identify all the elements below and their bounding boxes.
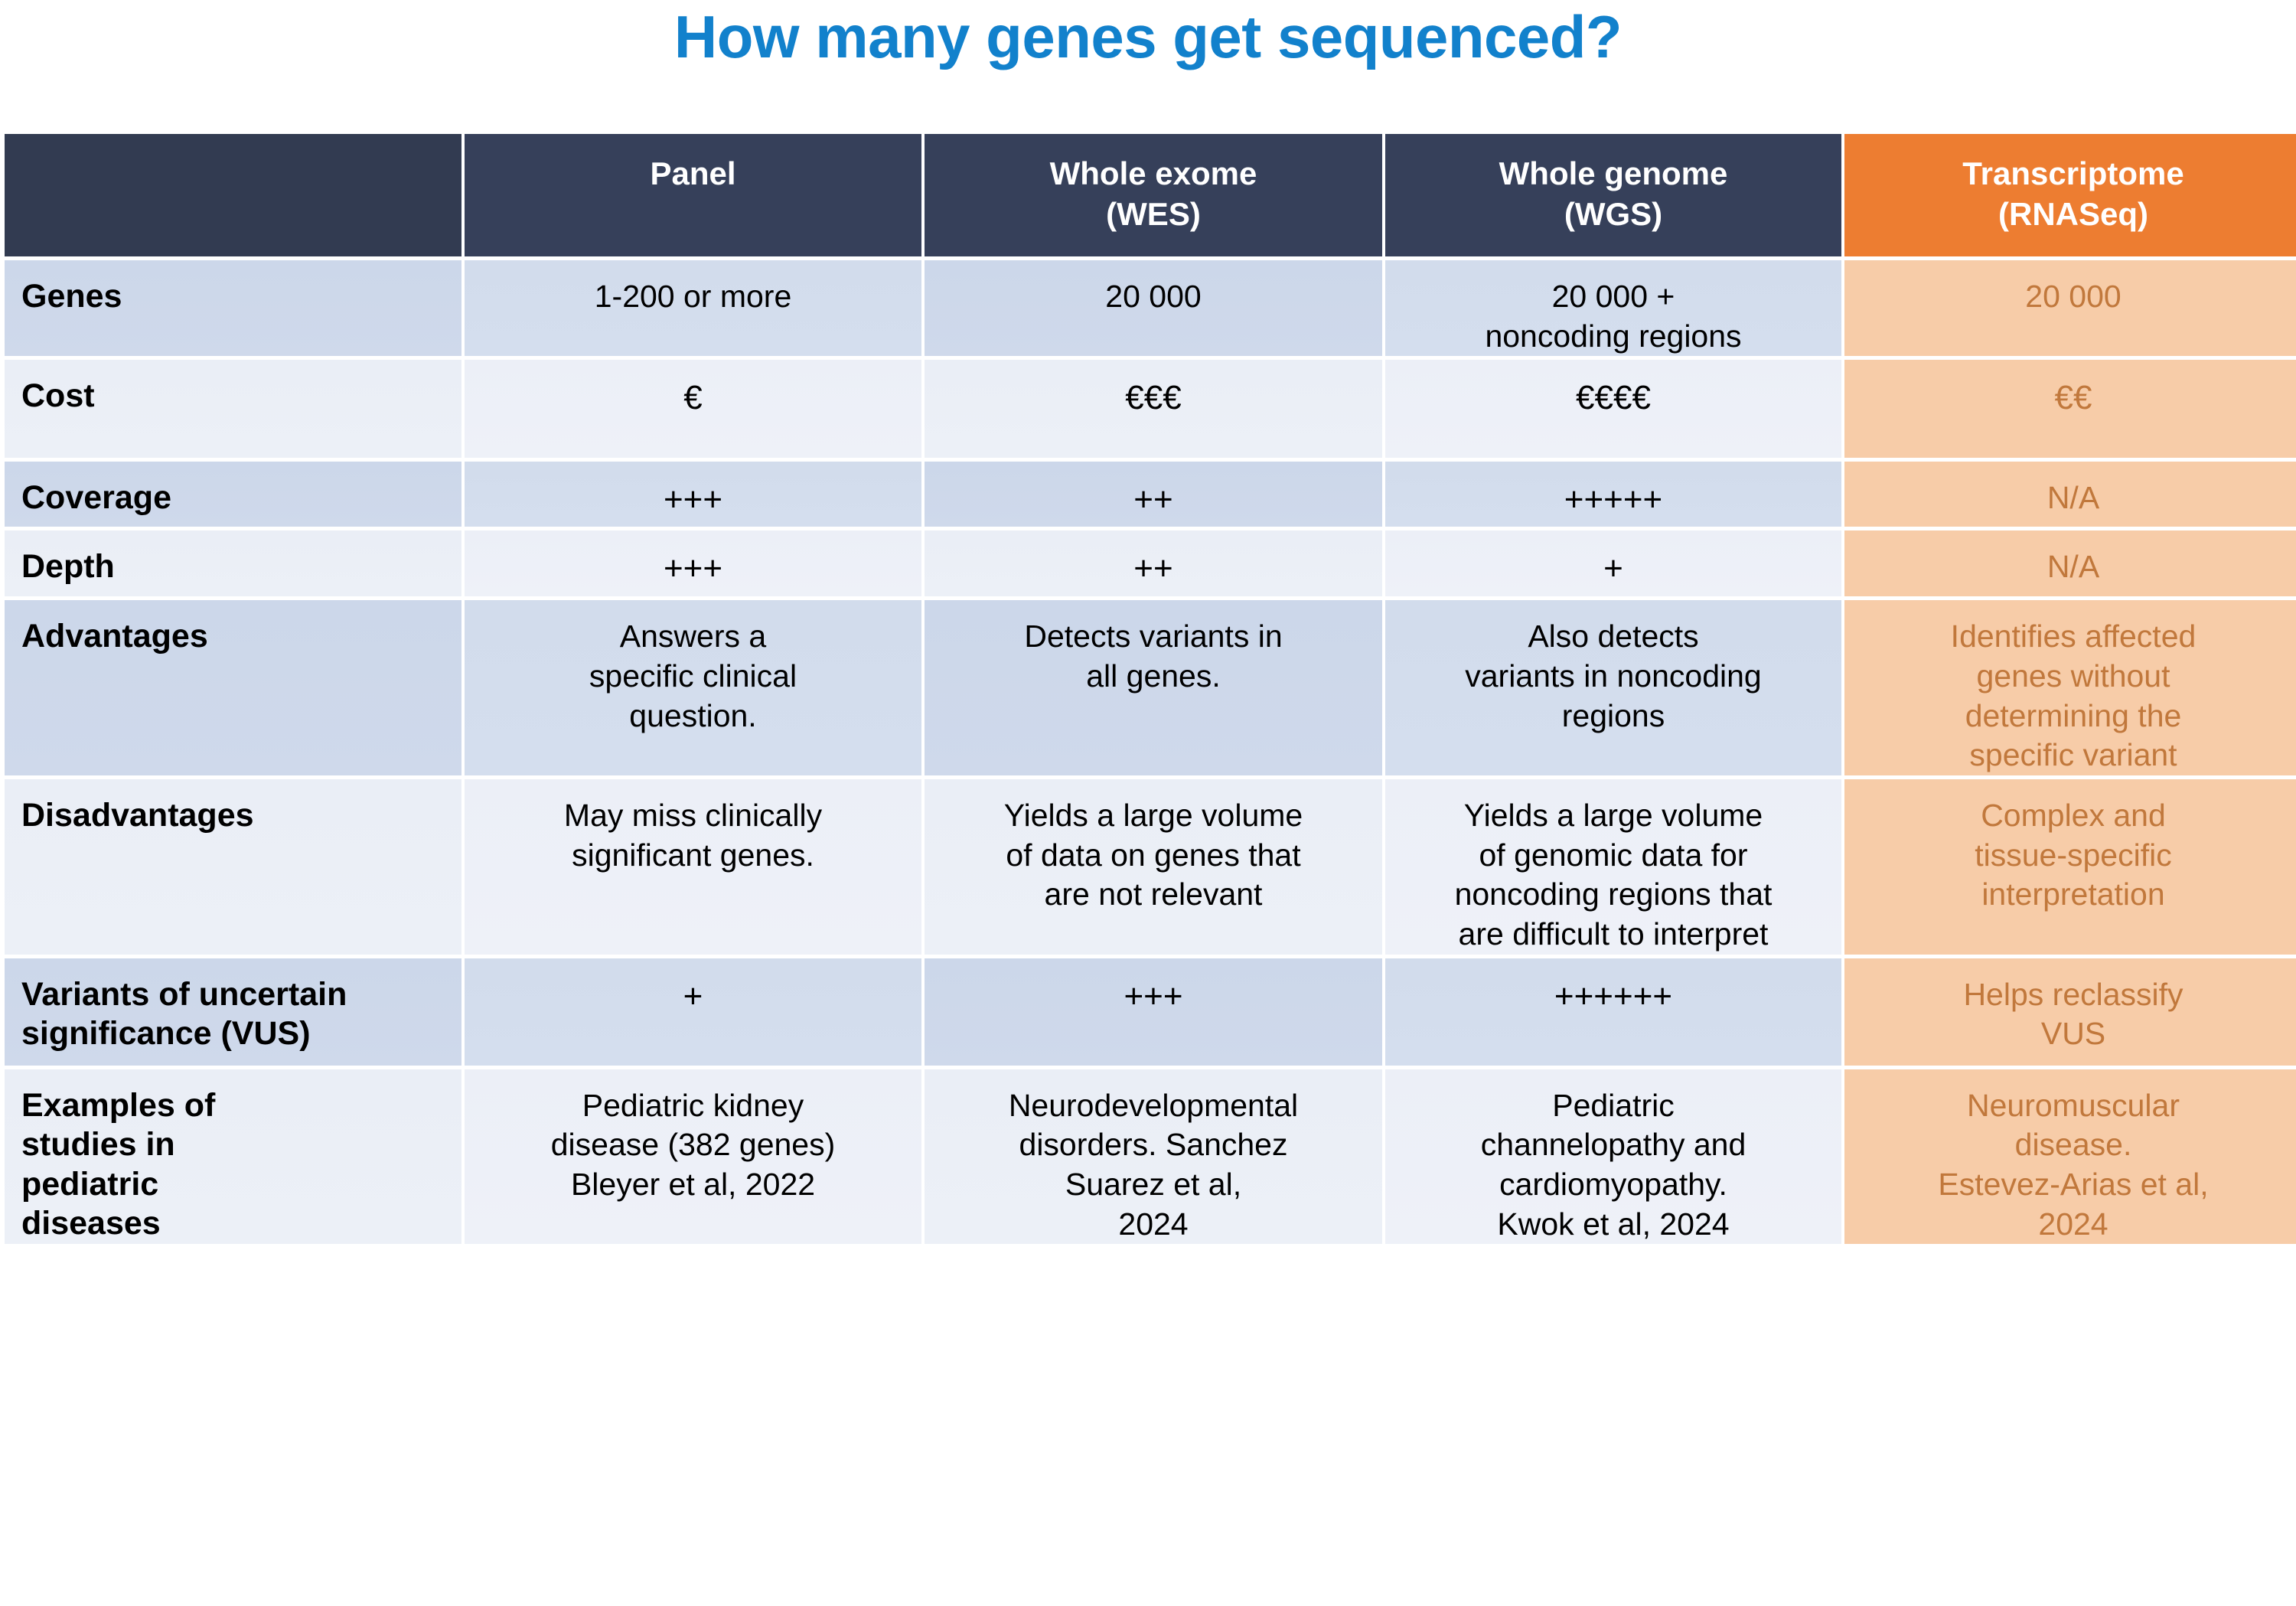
- table-row: Examples ofstudies inpediatricdiseases P…: [5, 1069, 2296, 1245]
- cell-coverage-wgs: +++++: [1385, 462, 1841, 527]
- cell-coverage-rnaseq: N/A: [1844, 462, 2296, 527]
- column-header-transcriptome: Transcriptome (RNASeq): [1844, 134, 2296, 256]
- cell-examples-panel: Pediatric kidneydisease (382 genes)Bleye…: [465, 1069, 921, 1245]
- cell-advantages-panel: Answers aspecific clinicalquestion.: [465, 600, 921, 775]
- cell-genes-wgs: 20 000 +noncoding regions: [1385, 260, 1841, 356]
- cell-genes-rnaseq: 20 000: [1844, 260, 2296, 356]
- cell-vus-rnaseq: Helps reclassifyVUS: [1844, 958, 2296, 1066]
- column-header-wes-line2: (WES): [925, 194, 1382, 235]
- cell-disadvantages-rnaseq: Complex andtissue-specificinterpretation: [1844, 779, 2296, 955]
- row-label-disadvantages: Disadvantages: [5, 779, 461, 955]
- cell-advantages-wes: Detects variants inall genes.: [925, 600, 1382, 775]
- cell-cost-wgs: €€€€: [1385, 360, 1841, 458]
- column-header-transcriptome-line2: (RNASeq): [1844, 194, 2296, 235]
- column-header-panel: Panel: [465, 134, 921, 256]
- column-header-blank: [5, 134, 461, 256]
- table-row: Disadvantages May miss clinicallysignifi…: [5, 779, 2296, 955]
- table-body: Genes 1-200 or more 20 000 20 000 +nonco…: [5, 260, 2296, 1244]
- cell-depth-wes: ++: [925, 530, 1382, 596]
- cell-examples-wgs: Pediatricchannelopathy andcardiomyopathy…: [1385, 1069, 1841, 1245]
- cell-advantages-wgs: Also detectsvariants in noncodingregions: [1385, 600, 1841, 775]
- cell-disadvantages-panel: May miss clinicallysignificant genes.: [465, 779, 921, 955]
- comparison-table-wrap: Panel Whole exome (WES) Whole genome (WG…: [2, 130, 2294, 1248]
- row-label-vus: Variants of uncertainsignificance (VUS): [5, 958, 461, 1066]
- column-header-wgs-line2: (WGS): [1385, 194, 1841, 235]
- comparison-table: Panel Whole exome (WES) Whole genome (WG…: [2, 130, 2296, 1248]
- cell-vus-wgs: ++++++: [1385, 958, 1841, 1066]
- cell-disadvantages-wgs: Yields a large volumeof genomic data for…: [1385, 779, 1841, 955]
- cell-coverage-panel: +++: [465, 462, 921, 527]
- table-row: Coverage +++ ++ +++++ N/A: [5, 462, 2296, 527]
- column-header-transcriptome-line1: Transcriptome: [1844, 154, 2296, 194]
- table-row: Advantages Answers aspecific clinicalque…: [5, 600, 2296, 775]
- cell-disadvantages-wes: Yields a large volumeof data on genes th…: [925, 779, 1382, 955]
- row-label-cost: Cost: [5, 360, 461, 458]
- table-row: Cost € €€€ €€€€ €€: [5, 360, 2296, 458]
- column-header-wgs-line1: Whole genome: [1385, 154, 1841, 194]
- table-header-row: Panel Whole exome (WES) Whole genome (WG…: [5, 134, 2296, 256]
- column-header-wes: Whole exome (WES): [925, 134, 1382, 256]
- cell-depth-panel: +++: [465, 530, 921, 596]
- row-label-coverage: Coverage: [5, 462, 461, 527]
- cell-depth-wgs: +: [1385, 530, 1841, 596]
- slide-root: How many genes get sequenced? Panel Whol…: [0, 0, 2296, 1606]
- cell-examples-wes: Neurodevelopmentaldisorders. SanchezSuar…: [925, 1069, 1382, 1245]
- table-header: Panel Whole exome (WES) Whole genome (WG…: [5, 134, 2296, 256]
- table-row: Depth +++ ++ + N/A: [5, 530, 2296, 596]
- cell-genes-wes: 20 000: [925, 260, 1382, 356]
- table-row: Genes 1-200 or more 20 000 20 000 +nonco…: [5, 260, 2296, 356]
- cell-vus-panel: +: [465, 958, 921, 1066]
- cell-examples-rnaseq: Neuromusculardisease.Estevez-Arias et al…: [1844, 1069, 2296, 1245]
- cell-cost-rnaseq: €€: [1844, 360, 2296, 458]
- column-header-wgs: Whole genome (WGS): [1385, 134, 1841, 256]
- row-label-advantages: Advantages: [5, 600, 461, 775]
- row-label-depth: Depth: [5, 530, 461, 596]
- column-header-panel-line1: Panel: [465, 154, 921, 194]
- row-label-examples: Examples ofstudies inpediatricdiseases: [5, 1069, 461, 1245]
- cell-depth-rnaseq: N/A: [1844, 530, 2296, 596]
- cell-cost-panel: €: [465, 360, 921, 458]
- cell-coverage-wes: ++: [925, 462, 1382, 527]
- page-title: How many genes get sequenced?: [0, 5, 2296, 70]
- cell-vus-wes: +++: [925, 958, 1382, 1066]
- cell-advantages-rnaseq: Identifies affectedgenes withoutdetermin…: [1844, 600, 2296, 775]
- cell-cost-wes: €€€: [925, 360, 1382, 458]
- column-header-wes-line1: Whole exome: [925, 154, 1382, 194]
- table-row: Variants of uncertainsignificance (VUS) …: [5, 958, 2296, 1066]
- row-label-genes: Genes: [5, 260, 461, 356]
- cell-genes-panel: 1-200 or more: [465, 260, 921, 356]
